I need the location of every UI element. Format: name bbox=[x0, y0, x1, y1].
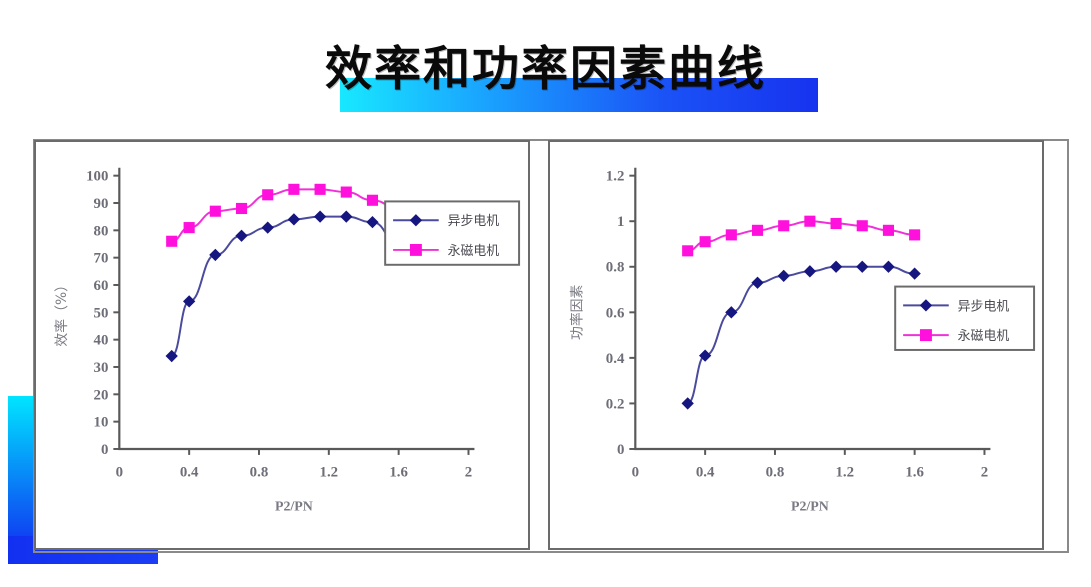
data-point-pm bbox=[909, 229, 920, 240]
data-point-pm bbox=[883, 225, 894, 236]
x-tick-label: 1.6 bbox=[905, 465, 924, 481]
y-tick-label: 0 bbox=[101, 442, 108, 458]
y-tick-label: 80 bbox=[94, 223, 109, 239]
data-point-async bbox=[882, 261, 894, 273]
data-point-async bbox=[288, 213, 300, 225]
y-tick-label: 0.6 bbox=[606, 305, 625, 321]
data-point-async bbox=[830, 261, 842, 273]
y-axis-title-group: 效率（%） bbox=[53, 278, 70, 347]
data-point-async bbox=[262, 221, 274, 233]
y-tick-label: 30 bbox=[94, 360, 109, 376]
y-axis-title-group: 功率因素 bbox=[569, 284, 586, 340]
x-tick-label: 1.2 bbox=[836, 465, 855, 481]
data-point-pm bbox=[804, 216, 815, 227]
legend-label: 永磁电机 bbox=[448, 244, 500, 259]
y-tick-label: 0.2 bbox=[606, 396, 625, 412]
chart-panel-efficiency: 010203040506070809010000.40.81.21.62P2/P… bbox=[34, 140, 530, 550]
slide-outer-frame-right-edge bbox=[1063, 139, 1069, 553]
data-point-async bbox=[751, 277, 763, 289]
y-tick-label: 50 bbox=[94, 305, 109, 321]
x-tick-label: 1.6 bbox=[389, 465, 408, 481]
y-tick-label: 60 bbox=[94, 278, 109, 294]
x-tick-label: 0.4 bbox=[180, 465, 199, 481]
y-tick-label: 90 bbox=[94, 196, 109, 212]
data-point-async bbox=[340, 211, 352, 223]
data-point-async bbox=[725, 306, 737, 318]
y-tick-label: 40 bbox=[94, 333, 109, 349]
y-tick-label: 0.8 bbox=[606, 260, 625, 276]
x-tick-label: 0 bbox=[632, 465, 639, 481]
y-tick-label: 1.2 bbox=[606, 169, 625, 185]
y-tick-label: 0.4 bbox=[606, 351, 625, 367]
data-point-pm bbox=[236, 203, 247, 214]
data-point-pm bbox=[726, 229, 737, 240]
data-point-pm bbox=[682, 245, 693, 256]
data-point-pm bbox=[778, 220, 789, 231]
data-point-async bbox=[856, 261, 868, 273]
legend-label: 永磁电机 bbox=[958, 329, 1010, 344]
y-tick-label: 10 bbox=[94, 415, 109, 431]
x-axis-title: P2/PN bbox=[791, 499, 829, 514]
data-point-pm bbox=[184, 222, 195, 233]
x-axis-title: P2/PN bbox=[275, 499, 313, 514]
y-axis-title: 效率（%） bbox=[53, 278, 70, 347]
data-point-async bbox=[314, 211, 326, 223]
data-point-async bbox=[235, 230, 247, 242]
data-point-pm bbox=[367, 195, 378, 206]
power-factor-chart-svg: 00.20.40.60.811.200.40.81.21.62P2/PN功率因素… bbox=[550, 142, 1042, 548]
data-point-async bbox=[908, 267, 920, 279]
data-point-pm bbox=[341, 187, 352, 198]
y-tick-label: 0 bbox=[617, 442, 624, 458]
legend-marker-pm bbox=[410, 244, 422, 256]
page-title: 效率和功率因素曲线 bbox=[0, 30, 1091, 99]
x-tick-label: 2 bbox=[981, 465, 988, 481]
legend-marker-pm bbox=[920, 329, 932, 341]
data-point-pm bbox=[166, 236, 177, 247]
data-point-pm bbox=[262, 189, 273, 200]
chart-panel-power-factor: 00.20.40.60.811.200.40.81.21.62P2/PN功率因素… bbox=[548, 140, 1044, 550]
data-point-async bbox=[366, 216, 378, 228]
legend-label: 异步电机 bbox=[448, 214, 500, 229]
y-axis-title: 功率因素 bbox=[569, 284, 586, 340]
x-tick-label: 2 bbox=[465, 465, 472, 481]
x-tick-label: 1.2 bbox=[320, 465, 339, 481]
data-point-pm bbox=[752, 225, 763, 236]
y-tick-label: 100 bbox=[86, 169, 108, 185]
data-point-async bbox=[778, 270, 790, 282]
x-tick-label: 0.8 bbox=[250, 465, 269, 481]
series-line-pm bbox=[172, 189, 399, 241]
data-point-pm bbox=[857, 220, 868, 231]
y-tick-label: 70 bbox=[94, 251, 109, 267]
y-tick-label: 20 bbox=[94, 387, 109, 403]
data-point-pm bbox=[315, 184, 326, 195]
series-line-async bbox=[688, 267, 915, 404]
legend-label: 异步电机 bbox=[958, 299, 1010, 314]
data-point-pm bbox=[831, 218, 842, 229]
y-tick-label: 1 bbox=[617, 214, 624, 230]
x-tick-label: 0.8 bbox=[766, 465, 785, 481]
x-tick-label: 0 bbox=[116, 465, 123, 481]
series-line-async bbox=[172, 217, 399, 356]
data-point-pm bbox=[210, 206, 221, 217]
data-point-async bbox=[804, 265, 816, 277]
title-area: 效率和功率因素曲线 bbox=[0, 14, 1091, 114]
data-point-pm bbox=[288, 184, 299, 195]
efficiency-chart-svg: 010203040506070809010000.40.81.21.62P2/P… bbox=[36, 142, 528, 548]
data-point-async bbox=[209, 249, 221, 261]
data-point-pm bbox=[700, 236, 711, 247]
x-tick-label: 0.4 bbox=[696, 465, 715, 481]
series-line-pm bbox=[688, 221, 915, 251]
